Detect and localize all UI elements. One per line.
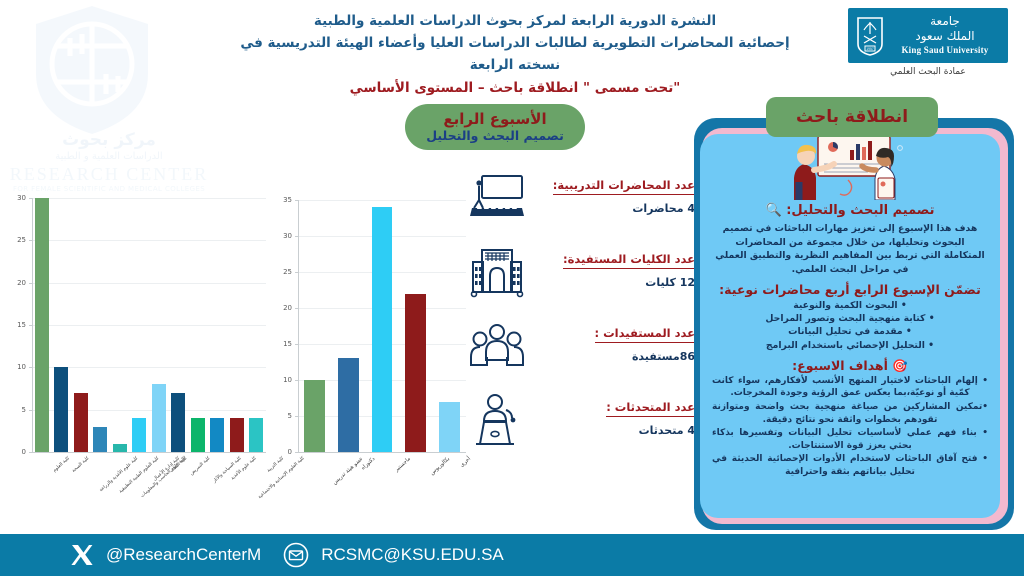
- chart-bar: [210, 418, 224, 452]
- chart-gridline: [32, 325, 266, 326]
- watermark-english-title: RESEARCH CENTER: [4, 164, 214, 185]
- lecture-hall-icon: [470, 172, 524, 224]
- stat-title: عدد الكليات المستفيدة:: [563, 251, 695, 269]
- ksu-arabic-line-2: الملك سعود: [890, 29, 1000, 44]
- chart-bar: [93, 427, 107, 452]
- week-badge-title: الأسبوع الرابع: [443, 110, 546, 128]
- statistics-list: عدد المحاضرات التدريبية:4 محاضراتعدد الك…: [470, 172, 695, 468]
- degree-chart: 05101520253035عضو هيئة تدريسدكتوراهماجست…: [272, 190, 472, 530]
- header-line-3: "تحت مسمى " انطلاقة باحث – المستوى الأسا…: [225, 76, 805, 100]
- ksu-logo: جامعة الملك سعود King Saud University 19…: [848, 8, 1008, 77]
- ksu-emblem-icon: 1957: [856, 16, 884, 56]
- stat-row: عدد الكليات المستفيدة:12 كليات: [470, 246, 695, 311]
- envelope-icon[interactable]: [283, 542, 309, 568]
- y-axis-tick: 25: [272, 268, 292, 276]
- lecture-item: • كتابة منهجية البحث وتصور المراحل: [716, 312, 984, 325]
- y-axis-line: [298, 200, 299, 452]
- section1-title-text: تصميم البحث والتحليل:: [786, 203, 934, 218]
- x-axis-label: ماجستير: [394, 456, 412, 473]
- chart-bar: [338, 358, 359, 452]
- x-axis-label: عضو هيئة تدريس: [332, 456, 365, 486]
- chart-bar: [171, 393, 185, 452]
- stat-text: عدد الكليات المستفيدة:12 كليات: [532, 246, 695, 289]
- y-axis-tick: 25: [8, 236, 26, 244]
- chart-bar: [74, 393, 88, 452]
- chart-bar: [113, 444, 127, 452]
- infographic-page: مركز بحوث الدراسات العلمية و الطبية RESE…: [0, 0, 1024, 576]
- stat-title: عدد المستفيدات :: [595, 325, 696, 343]
- lecture-item: • البحوث الكمية والنوعية: [716, 299, 984, 312]
- x-axis-label: بكالوريوس: [429, 456, 451, 477]
- target-icon: 🎯: [892, 358, 908, 373]
- right-panel-title: انطلاقة باحث: [796, 107, 908, 127]
- y-axis-tick: 5: [272, 412, 292, 420]
- week-badge-subtitle: تصميم البحث والتحليل: [426, 128, 564, 144]
- chart-bar: [152, 384, 166, 452]
- y-axis-tick: 15: [8, 321, 26, 329]
- watermark-arabic-sub: الدراسات العلمية و الطبية: [4, 151, 214, 162]
- footer-bar: @ResearchCenterM RCSMC@KSU.EDU.SA: [0, 534, 1024, 576]
- y-axis-tick: 0: [272, 448, 292, 456]
- stat-row: عدد المستفيدات :86مستفيدة: [470, 320, 695, 385]
- header-line-2: إحصائية المحاضرات التطويرية لطالبات الدر…: [225, 32, 805, 76]
- chart-gridline: [32, 283, 266, 284]
- goal-item: • إلهام الباحثات لاختيار المنهج الأنسب ل…: [712, 375, 988, 400]
- researchers-illustration: [700, 134, 1000, 200]
- ksu-english-name: King Saud University: [890, 44, 1000, 57]
- y-axis-tick: 20: [8, 279, 26, 287]
- people-group-icon: [470, 320, 524, 372]
- section1-paragraph: هدف هذا الإسبوع إلى تعزيز مهارات الباحثا…: [700, 220, 1000, 276]
- stat-value: 4 متحدثات: [532, 424, 695, 437]
- y-axis-tick: 5: [8, 406, 26, 414]
- stat-value: 12 كليات: [532, 276, 695, 289]
- ksu-arabic-line-1: جامعة: [890, 14, 1000, 29]
- lecture-item: • التحليل الإحصائي باستخدام البرامج: [716, 339, 984, 352]
- week-badge: الأسبوع الرابع تصميم البحث والتحليل: [405, 104, 585, 150]
- y-axis-tick: 30: [8, 194, 26, 202]
- speaker-podium-icon: [470, 394, 524, 446]
- stat-value: 4 محاضرات: [532, 202, 695, 215]
- goal-item: • فتح آفاق الباحثات لاستخدام الأدوات الإ…: [712, 453, 988, 478]
- x-axis-line: [32, 452, 266, 453]
- y-axis-tick: 0: [8, 448, 26, 456]
- chart-bar: [304, 380, 325, 452]
- colleges-chart: 051015202530كلية العلومكلية الصحةكلية عل…: [8, 190, 270, 530]
- y-axis-tick: 10: [272, 376, 292, 384]
- goals-list: • إلهام الباحثات لاختيار المنهج الأنسب ل…: [700, 374, 1000, 479]
- illustration-graphic: [700, 134, 1000, 200]
- header-line-1: النشرة الدورية الرابعة لمركز بحوث الدراس…: [225, 10, 805, 32]
- building-icon: [470, 246, 524, 298]
- ksu-logo-text: جامعة الملك سعود King Saud University: [890, 14, 1000, 57]
- twitter-handle[interactable]: @ResearchCenterM: [106, 545, 261, 565]
- chart-gridline: [32, 198, 266, 199]
- shield-logo-icon: [32, 4, 152, 136]
- chart-gridline: [32, 240, 266, 241]
- y-axis-tick: 10: [8, 363, 26, 371]
- x-axis-label: كلية التمريض: [190, 456, 212, 477]
- stat-title: عدد المحاضرات التدريبية:: [553, 177, 695, 195]
- chart-bar: [191, 418, 205, 452]
- x-axis-label: كلية علوم الأغذية والزراعة: [98, 456, 139, 493]
- stat-text: عدد المتحدثات :4 متحدثات: [532, 394, 695, 437]
- chart-bar: [132, 418, 146, 452]
- y-axis-line: [32, 198, 33, 452]
- stat-title: عدد المتحدثات :: [606, 399, 695, 417]
- chart-bar: [54, 367, 68, 452]
- y-axis-tick: 30: [272, 232, 292, 240]
- x-axis-label: كلية العلوم: [52, 456, 71, 474]
- right-panel-content: تصميم البحث والتحليل: 🔍 هدف هذا الإسبوع …: [700, 134, 1000, 518]
- x-axis-label: كلية الصحة: [72, 456, 91, 474]
- svg-text:1957: 1957: [866, 47, 874, 51]
- chart-bar: [230, 418, 244, 452]
- page-header: النشرة الدورية الرابعة لمركز بحوث الدراس…: [225, 10, 805, 100]
- chart-bar: [439, 402, 460, 452]
- goal-item: •تمكين المشاركين من صياغة منهجية بحث واض…: [712, 401, 988, 426]
- ksu-deanship-subtitle: عمادة البحث العلمي: [848, 67, 1008, 77]
- x-axis-line: [298, 452, 466, 453]
- magnifier-chart-icon: 🔍: [766, 203, 782, 218]
- section3-heading: 🎯 أهداف الاسبوع:: [700, 357, 1000, 374]
- y-axis-tick: 15: [272, 340, 292, 348]
- stat-row: عدد المتحدثات :4 متحدثات: [470, 394, 695, 459]
- chart-bar: [249, 418, 263, 452]
- chart-bar: [35, 198, 49, 452]
- right-panel-title-badge: انطلاقة باحث: [766, 97, 938, 137]
- chart-bar: [372, 207, 393, 452]
- lecture-item: • مقدمة في تحليل البيانات: [716, 325, 984, 338]
- lectures-list: • البحوث الكمية والنوعية• كتابة منهجية ا…: [700, 298, 1000, 352]
- stat-value: 86مستفيدة: [532, 350, 695, 363]
- y-axis-tick: 35: [272, 196, 292, 204]
- section1-heading: تصميم البحث والتحليل: 🔍: [700, 202, 1000, 220]
- ksu-logo-box: جامعة الملك سعود King Saud University 19…: [848, 8, 1008, 63]
- section3-title-text: أهداف الاسبوع:: [792, 358, 888, 373]
- stat-text: عدد المحاضرات التدريبية:4 محاضرات: [532, 172, 695, 215]
- research-center-watermark: مركز بحوث الدراسات العلمية و الطبية RESE…: [4, 4, 214, 194]
- chart-bar: [405, 294, 426, 452]
- stat-row: عدد المحاضرات التدريبية:4 محاضرات: [470, 172, 695, 237]
- watermark-arabic-title: مركز بحوث: [4, 130, 214, 150]
- stat-text: عدد المستفيدات :86مستفيدة: [532, 320, 695, 363]
- chart-gridline: [298, 200, 466, 201]
- y-axis-tick: 20: [272, 304, 292, 312]
- section2-heading: تضمّن الإسبوع الرابع أربع محاضرات نوعية:: [700, 281, 1000, 298]
- x-twitter-icon[interactable]: [70, 543, 94, 567]
- contact-email[interactable]: RCSMC@KSU.EDU.SA: [321, 545, 504, 565]
- goal-item: • بناء فهم عملي لأساسيات تحليل البيانات …: [712, 427, 988, 452]
